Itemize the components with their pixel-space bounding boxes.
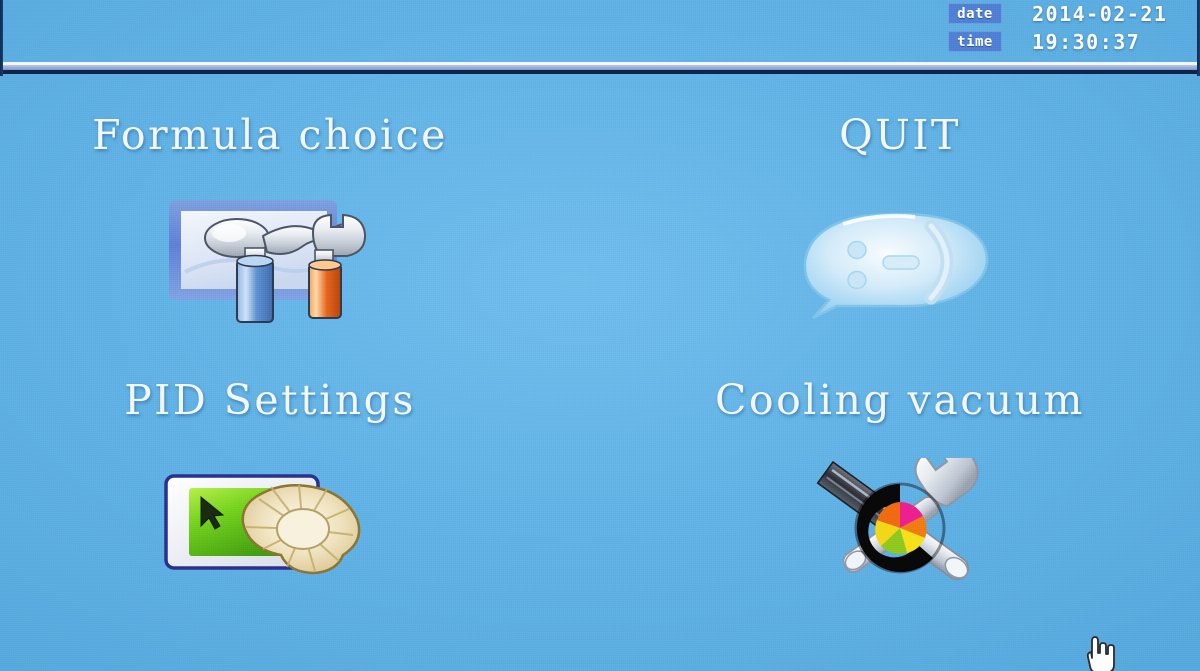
menu-tile-pid-settings[interactable]: PID Settings bbox=[30, 376, 510, 626]
time-value: 19:30:37 bbox=[1032, 30, 1182, 54]
hmi-screen: date 2014-02-21 time 19:30:37 Formula ch… bbox=[0, 0, 1200, 671]
menu-tile-formula-choice-label: Formula choice bbox=[30, 111, 510, 159]
header-divider bbox=[3, 62, 1197, 76]
menu-tile-cooling-vacuum-label: Cooling vacuum bbox=[660, 376, 1140, 424]
screwdriver-wrench-colorwheel-icon bbox=[660, 438, 1140, 618]
menu-tile-quit[interactable]: QUIT bbox=[660, 111, 1140, 361]
menu-tile-quit-label: QUIT bbox=[660, 111, 1140, 159]
green-monitor-shell-icon bbox=[30, 438, 510, 618]
header-bar: date 2014-02-21 time 19:30:37 bbox=[0, 0, 1200, 70]
speech-bubble-smiley-icon bbox=[660, 173, 1140, 353]
divider-shadow bbox=[3, 70, 1197, 74]
menu-tile-cooling-vacuum[interactable]: Cooling vacuum bbox=[660, 376, 1140, 626]
date-label: date bbox=[948, 3, 1002, 24]
hammer-wrench-panel-icon bbox=[30, 173, 510, 353]
datetime-panel: date 2014-02-21 time 19:30:37 bbox=[948, 2, 1182, 53]
time-label: time bbox=[948, 31, 1002, 52]
date-value: 2014-02-21 bbox=[1032, 2, 1182, 26]
menu-tile-pid-settings-label: PID Settings bbox=[30, 376, 510, 424]
main-menu: Formula choice bbox=[0, 76, 1200, 671]
time-row: time 19:30:37 bbox=[948, 30, 1182, 53]
date-row: date 2014-02-21 bbox=[948, 2, 1182, 25]
menu-tile-formula-choice[interactable]: Formula choice bbox=[30, 111, 510, 361]
